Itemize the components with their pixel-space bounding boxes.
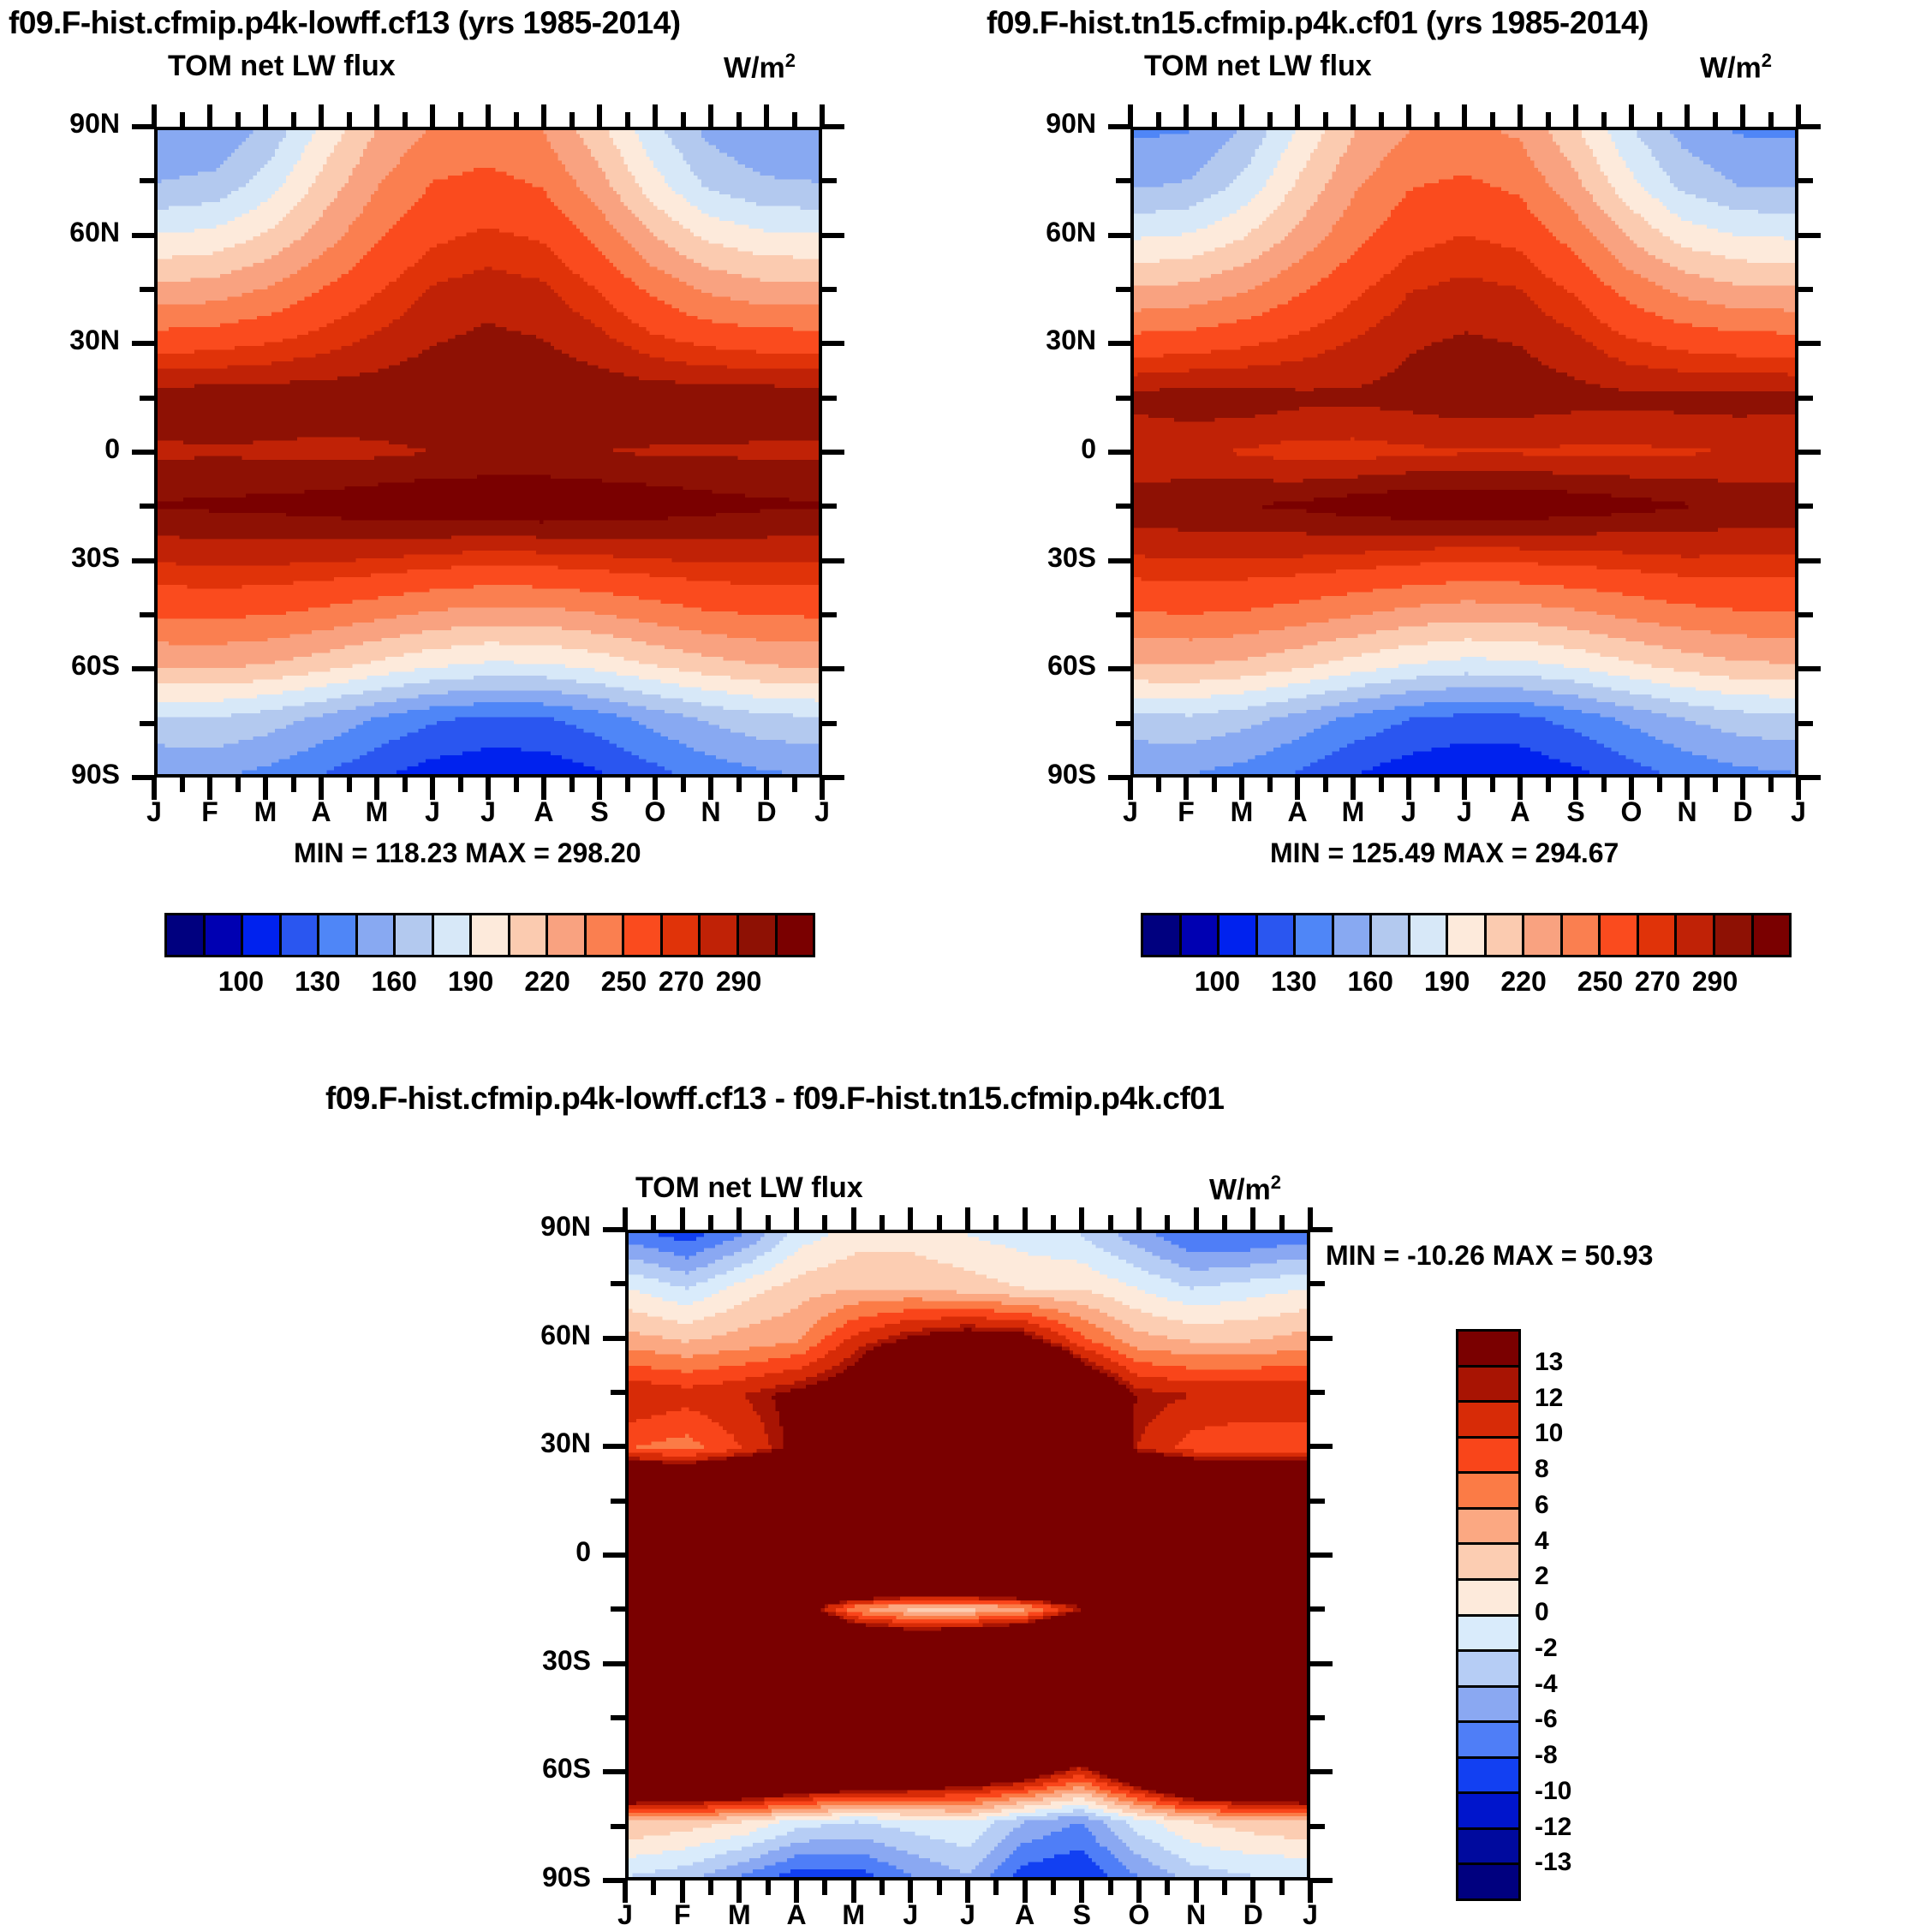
colorbar-swatch <box>701 915 739 955</box>
x-axis-tick-top <box>319 104 324 127</box>
units-exponent: 2 <box>1271 1171 1281 1193</box>
x-axis-tick-top-minor <box>625 112 630 127</box>
plot-area-topright <box>1130 127 1798 778</box>
x-axis-tick-top <box>1239 104 1244 127</box>
x-axis-tick-top <box>623 1207 628 1230</box>
x-axis-tick-bottom-minor <box>1108 1880 1113 1895</box>
x-axis-tick-top <box>820 104 825 127</box>
panel-bottom-variable-label: TOM net LW flux <box>635 1171 863 1205</box>
colorbar-swatch <box>1372 915 1410 955</box>
x-axis-tick-bottom-minor <box>1051 1880 1056 1895</box>
x-axis-label-12: J <box>788 796 856 828</box>
x-axis-tick-top <box>736 1207 742 1230</box>
colorbar-diff-tick--12: -12 <box>1535 1813 1571 1842</box>
x-axis-tick-top <box>1128 104 1133 127</box>
panel-topleft-title: f09.F-hist.cfmip.p4k-lowff.cf13 (yrs 198… <box>9 5 681 41</box>
colorbar-swatch <box>1458 1652 1518 1688</box>
x-axis-tick-bottom-minor <box>736 778 742 792</box>
x-axis-tick-bottom-minor <box>1165 1880 1170 1895</box>
y-axis-tick-major <box>1108 233 1130 238</box>
x-axis-tick-top <box>152 104 157 127</box>
colorbar-swatch <box>1677 915 1715 955</box>
x-axis-tick-top-minor <box>681 112 686 127</box>
y-axis-tick-minor <box>140 612 154 617</box>
colorbar-swatch <box>1487 915 1525 955</box>
colorbar-swatch <box>1715 915 1754 955</box>
x-axis-tick-top-minor <box>347 112 352 127</box>
y-axis-tick-minor <box>611 1281 625 1286</box>
colorbar-diff-tick--8: -8 <box>1535 1741 1558 1770</box>
x-axis-tick-bottom-minor <box>236 778 241 792</box>
colorbar-swatch <box>472 915 510 955</box>
x-axis-tick-bottom-minor <box>180 778 185 792</box>
y-axis-tick-major <box>1108 666 1130 671</box>
colorbar-swatch <box>1601 915 1639 955</box>
y-axis-tick-major <box>132 558 154 563</box>
x-axis-tick-top <box>1308 1207 1313 1230</box>
y-axis-label-30S: 30S <box>0 542 120 574</box>
y-axis-tick-major-right <box>1310 1661 1333 1666</box>
y-axis-label-90N: 90N <box>968 108 1096 140</box>
x-axis-tick-top-minor <box>291 112 296 127</box>
x-axis-tick-bottom-minor <box>651 1880 656 1895</box>
y-axis-tick-major-right <box>1310 1336 1333 1341</box>
x-axis-tick-bottom-minor <box>1601 778 1607 792</box>
y-axis-tick-minor-right <box>822 287 837 292</box>
y-axis-label-60S: 60S <box>968 650 1096 682</box>
y-axis-tick-minor <box>140 287 154 292</box>
x-axis-tick-top-minor <box>1267 112 1273 127</box>
y-axis-tick-minor-right <box>1310 1824 1325 1829</box>
x-axis-tick-top-minor <box>1434 112 1440 127</box>
y-axis-label-30S: 30S <box>968 542 1096 574</box>
colorbar-diff-tick--2: -2 <box>1535 1634 1558 1663</box>
colorbar-topright <box>1141 913 1792 957</box>
y-axis-tick-minor <box>1116 721 1130 726</box>
y-axis-tick-major-right <box>1798 341 1821 346</box>
x-axis-tick-top-minor <box>792 112 797 127</box>
x-axis-tick-top-minor <box>651 1215 656 1230</box>
colorbar-swatch <box>434 915 473 955</box>
colorbar-swatch <box>1458 1368 1518 1404</box>
colorbar-swatch <box>1143 915 1182 955</box>
panel-bottom-minmax: MIN = -10.26 MAX = 50.93 <box>1326 1240 1653 1272</box>
y-axis-tick-major-right <box>1310 1553 1333 1558</box>
y-axis-label-30N: 30N <box>0 325 120 356</box>
x-axis-tick-top-minor <box>993 1215 999 1230</box>
colorbar-swatch <box>587 915 625 955</box>
y-axis-tick-major-right <box>822 666 844 671</box>
x-axis-tick-top-minor <box>1379 112 1384 127</box>
y-axis-label-60S: 60S <box>462 1753 591 1785</box>
x-axis-tick-top <box>486 104 491 127</box>
plot-area-bottom <box>625 1230 1310 1880</box>
colorbar-swatch <box>1448 915 1487 955</box>
x-axis-tick-bottom-minor <box>1379 778 1384 792</box>
x-axis-tick-top <box>1462 104 1467 127</box>
colorbar-swatch <box>282 915 320 955</box>
plot-area-topleft <box>154 127 822 778</box>
x-axis-tick-top <box>680 1207 685 1230</box>
x-axis-tick-top <box>207 104 212 127</box>
x-axis-tick-top-minor <box>236 112 241 127</box>
y-axis-tick-minor <box>1116 612 1130 617</box>
contour-field <box>158 130 819 774</box>
colorbar-diff-tick-6: 6 <box>1535 1491 1549 1520</box>
colorbar-swatch <box>1458 1474 1518 1510</box>
colorbar-swatch <box>206 915 244 955</box>
y-axis-label-90N: 90N <box>0 108 120 140</box>
y-axis-tick-minor <box>611 1715 625 1720</box>
y-axis-tick-minor <box>611 1390 625 1395</box>
x-axis-tick-bottom-minor <box>458 778 463 792</box>
x-axis-tick-bottom-minor <box>1212 778 1217 792</box>
x-axis-tick-bottom-minor <box>1657 778 1662 792</box>
y-axis-tick-minor <box>140 396 154 401</box>
y-axis-label-60N: 60N <box>968 217 1096 248</box>
y-axis-tick-major <box>132 666 154 671</box>
colorbar-topleft <box>164 913 815 957</box>
y-axis-tick-major <box>603 1553 625 1558</box>
colorbar-diff-tick-10: 10 <box>1535 1419 1563 1448</box>
colorbar-swatch <box>1563 915 1601 955</box>
y-axis-tick-minor <box>1116 287 1130 292</box>
colorbar-swatch <box>1458 1617 1518 1653</box>
colorbar-swatch <box>1458 1510 1518 1546</box>
colorbar-swatch <box>1458 1723 1518 1759</box>
y-axis-tick-major-right <box>822 775 844 780</box>
y-axis-tick-minor-right <box>1798 287 1813 292</box>
colorbar-diff-tick--6: -6 <box>1535 1705 1558 1734</box>
x-axis-tick-top-minor <box>766 1215 771 1230</box>
x-axis-tick-bottom-minor <box>569 778 575 792</box>
units-text: W/m <box>724 51 785 84</box>
x-axis-tick-bottom-minor <box>708 1880 713 1895</box>
y-axis-label-30N: 30N <box>968 325 1096 356</box>
x-axis-tick-top-minor <box>1323 112 1328 127</box>
x-axis-tick-top-minor <box>402 112 408 127</box>
y-axis-tick-minor <box>1116 396 1130 401</box>
units-text: W/m <box>1209 1173 1271 1206</box>
x-axis-tick-top <box>1406 104 1411 127</box>
x-axis-tick-top-minor <box>180 112 185 127</box>
x-axis-tick-top-minor <box>1713 112 1718 127</box>
x-axis-tick-bottom-minor <box>766 1880 771 1895</box>
y-axis-tick-major-right <box>1798 558 1821 563</box>
panel-topright-units-label: W/m2 <box>1700 50 1772 85</box>
contour-field <box>1134 130 1795 774</box>
y-axis-tick-minor <box>140 721 154 726</box>
panel-topright-title: f09.F-hist.tn15.cfmip.p4k.cf01 (yrs 1985… <box>987 5 1649 41</box>
x-axis-tick-top-minor <box>569 112 575 127</box>
colorbar-swatch <box>1458 1865 1518 1898</box>
y-axis-tick-minor <box>140 504 154 509</box>
colorbar-swatch <box>243 915 282 955</box>
colorbar-swatch <box>1334 915 1373 955</box>
x-axis-tick-top-minor <box>1156 112 1161 127</box>
colorbar-diff-tick-13: 13 <box>1535 1348 1563 1377</box>
colorbar-swatch <box>319 915 358 955</box>
y-axis-tick-minor <box>1116 504 1130 509</box>
x-axis-tick-top <box>653 104 658 127</box>
y-axis-label-0: 0 <box>968 433 1096 465</box>
x-axis-tick-top-minor <box>1212 112 1217 127</box>
colorbar-swatch <box>1458 1332 1518 1368</box>
x-axis-tick-bottom-minor <box>1713 778 1718 792</box>
x-axis-tick-bottom-minor <box>625 778 630 792</box>
x-axis-tick-top-minor <box>1768 112 1774 127</box>
x-axis-tick-top <box>794 1207 799 1230</box>
colorbar-diff-tick-12: 12 <box>1535 1384 1563 1413</box>
y-axis-label-30N: 30N <box>462 1427 591 1459</box>
colorbar-diff-tick-4: 4 <box>1535 1527 1549 1556</box>
y-axis-label-90S: 90S <box>968 759 1096 790</box>
y-axis-tick-major <box>1108 450 1130 455</box>
x-axis-tick-top <box>1295 104 1300 127</box>
x-axis-tick-top <box>708 104 713 127</box>
y-axis-tick-major-right <box>1310 1444 1333 1449</box>
x-axis-tick-bottom-minor <box>792 778 797 792</box>
x-axis-tick-top <box>430 104 435 127</box>
x-axis-label-12: J <box>1764 796 1833 828</box>
x-axis-tick-top-minor <box>1108 1215 1113 1230</box>
y-axis-tick-major <box>603 1336 625 1341</box>
y-axis-tick-major <box>1108 558 1130 563</box>
y-axis-tick-major <box>1108 341 1130 346</box>
y-axis-tick-minor-right <box>822 504 837 509</box>
y-axis-tick-major-right <box>1798 450 1821 455</box>
y-axis-label-90S: 90S <box>462 1862 591 1893</box>
y-axis-tick-minor-right <box>1798 721 1813 726</box>
panel-topright-minmax: MIN = 125.49 MAX = 294.67 <box>1270 837 1619 869</box>
x-axis-tick-top <box>1079 1207 1084 1230</box>
colorbar-swatch <box>1458 1830 1518 1866</box>
colorbar-diff-tick--4: -4 <box>1535 1670 1558 1699</box>
x-axis-tick-top <box>908 1207 913 1230</box>
x-axis-tick-bottom-minor <box>514 778 519 792</box>
y-axis-label-90N: 90N <box>462 1211 591 1243</box>
x-axis-tick-top <box>1136 1207 1142 1230</box>
y-axis-tick-minor-right <box>1798 612 1813 617</box>
y-axis-tick-minor-right <box>1310 1390 1325 1395</box>
x-axis-tick-top-minor <box>1222 1215 1227 1230</box>
x-axis-tick-top <box>1194 1207 1199 1230</box>
x-axis-tick-top <box>1629 104 1634 127</box>
colorbar-swatch <box>1219 915 1258 955</box>
x-axis-tick-top <box>1573 104 1578 127</box>
x-axis-tick-top <box>1685 104 1690 127</box>
y-axis-tick-minor-right <box>822 612 837 617</box>
panel-topright-variable-label: TOM net LW flux <box>1144 50 1372 83</box>
panel-bottom-units-label: W/m2 <box>1209 1171 1281 1207</box>
colorbar-swatch <box>739 915 778 955</box>
colorbar-diff-tick-2: 2 <box>1535 1562 1549 1591</box>
y-axis-label-0: 0 <box>0 433 120 465</box>
y-axis-tick-minor-right <box>1310 1499 1325 1504</box>
x-axis-tick-top-minor <box>1546 112 1551 127</box>
colorbar-swatch <box>1458 1688 1518 1724</box>
y-axis-tick-major <box>603 1444 625 1449</box>
y-axis-tick-major <box>603 1769 625 1774</box>
y-axis-tick-major-right <box>1310 1769 1333 1774</box>
y-axis-label-60S: 60S <box>0 650 120 682</box>
y-axis-tick-minor <box>611 1824 625 1829</box>
y-axis-tick-major-right <box>1798 666 1821 671</box>
y-axis-tick-major-right <box>822 450 844 455</box>
x-axis-tick-top <box>597 104 602 127</box>
x-axis-tick-bottom-minor <box>402 778 408 792</box>
y-axis-tick-major-right <box>822 124 844 129</box>
units-text: W/m <box>1700 51 1762 84</box>
y-axis-tick-major-right <box>1798 775 1821 780</box>
y-axis-label-90S: 90S <box>0 759 120 790</box>
y-axis-tick-major-right <box>1310 1878 1333 1883</box>
x-axis-tick-top-minor <box>1601 112 1607 127</box>
units-exponent: 2 <box>1762 50 1772 71</box>
x-axis-tick-bottom-minor <box>1279 1880 1285 1895</box>
panel-bottom-title: f09.F-hist.cfmip.p4k-lowff.cf13 - f09.F-… <box>325 1081 1224 1117</box>
colorbar-swatch <box>1458 1439 1518 1475</box>
y-axis-tick-major-right <box>822 233 844 238</box>
x-axis-tick-bottom-minor <box>1222 1880 1227 1895</box>
x-axis-tick-bottom-minor <box>1156 778 1161 792</box>
colorbar-tick-label-290: 290 <box>688 966 790 998</box>
colorbar-swatch <box>1296 915 1334 955</box>
x-axis-tick-bottom-minor <box>1490 778 1495 792</box>
y-axis-tick-minor <box>611 1606 625 1612</box>
y-axis-tick-major-right <box>1798 233 1821 238</box>
colorbar-diff-tick-8: 8 <box>1535 1455 1549 1484</box>
x-axis-tick-bottom-minor <box>681 778 686 792</box>
x-axis-tick-top-minor <box>736 112 742 127</box>
x-axis-tick-top <box>1023 1207 1028 1230</box>
colorbar-diff-tick-0: 0 <box>1535 1598 1549 1627</box>
colorbar-swatch <box>358 915 397 955</box>
colorbar-swatch <box>1639 915 1678 955</box>
y-axis-tick-major-right <box>822 558 844 563</box>
colorbar-swatch <box>778 915 814 955</box>
x-axis-tick-top <box>1740 104 1745 127</box>
y-axis-tick-minor-right <box>1310 1606 1325 1612</box>
x-axis-tick-bottom-minor <box>937 1880 942 1895</box>
x-axis-label-12: J <box>1276 1899 1345 1931</box>
y-axis-label-60N: 60N <box>0 217 120 248</box>
units-exponent: 2 <box>785 50 796 71</box>
x-axis-tick-top <box>374 104 379 127</box>
x-axis-tick-top-minor <box>1051 1215 1056 1230</box>
x-axis-tick-top <box>851 1207 856 1230</box>
y-axis-tick-major <box>132 450 154 455</box>
colorbar-swatch <box>1524 915 1563 955</box>
x-axis-tick-top-minor <box>708 1215 713 1230</box>
y-axis-tick-major-right <box>822 341 844 346</box>
x-axis-tick-top <box>541 104 546 127</box>
x-axis-tick-top <box>965 1207 970 1230</box>
x-axis-tick-bottom-minor <box>993 1880 999 1895</box>
y-axis-tick-minor-right <box>1798 504 1813 509</box>
colorbar-swatch <box>1458 1581 1518 1617</box>
y-axis-tick-minor-right <box>822 396 837 401</box>
colorbar-diff-tick--10: -10 <box>1535 1777 1571 1806</box>
colorbar-swatch <box>1182 915 1220 955</box>
y-axis-tick-major-right <box>1798 124 1821 129</box>
y-axis-label-60N: 60N <box>462 1320 591 1351</box>
x-axis-tick-top <box>263 104 268 127</box>
y-axis-tick-minor-right <box>1798 396 1813 401</box>
y-axis-tick-minor <box>1116 178 1130 183</box>
x-axis-tick-bottom-minor <box>1546 778 1551 792</box>
colorbar-swatch <box>1410 915 1449 955</box>
y-axis-label-0: 0 <box>462 1536 591 1568</box>
panel-topleft-variable-label: TOM net LW flux <box>168 50 396 83</box>
colorbar-tick-label-290: 290 <box>1664 966 1767 998</box>
colorbar-diff-tick--13: -13 <box>1535 1848 1571 1877</box>
x-axis-tick-bottom-minor <box>1267 778 1273 792</box>
colorbar-swatch <box>1458 1545 1518 1581</box>
x-axis-tick-top <box>1518 104 1523 127</box>
x-axis-tick-top <box>1250 1207 1255 1230</box>
y-axis-tick-major <box>132 233 154 238</box>
x-axis-tick-top <box>1351 104 1356 127</box>
y-axis-tick-major <box>132 341 154 346</box>
contour-field <box>629 1233 1307 1877</box>
x-axis-tick-top-minor <box>514 112 519 127</box>
x-axis-tick-top <box>1184 104 1189 127</box>
x-axis-tick-bottom-minor <box>1434 778 1440 792</box>
y-axis-tick-minor-right <box>822 178 837 183</box>
y-axis-label-30S: 30S <box>462 1645 591 1677</box>
colorbar-bottom <box>1456 1329 1521 1901</box>
y-axis-tick-minor-right <box>1310 1281 1325 1286</box>
colorbar-swatch <box>1458 1759 1518 1795</box>
x-axis-tick-bottom-minor <box>880 1880 885 1895</box>
colorbar-swatch <box>663 915 701 955</box>
colorbar-swatch <box>1258 915 1297 955</box>
x-axis-tick-top <box>1796 104 1801 127</box>
x-axis-tick-bottom-minor <box>822 1880 827 1895</box>
y-axis-tick-minor <box>611 1499 625 1504</box>
x-axis-tick-top-minor <box>1657 112 1662 127</box>
colorbar-swatch <box>1458 1794 1518 1830</box>
x-axis-tick-top <box>764 104 769 127</box>
colorbar-swatch <box>510 915 549 955</box>
colorbar-swatch <box>396 915 434 955</box>
x-axis-tick-top-minor <box>1279 1215 1285 1230</box>
y-axis-tick-minor-right <box>1798 178 1813 183</box>
x-axis-tick-top-minor <box>880 1215 885 1230</box>
x-axis-tick-bottom-minor <box>291 778 296 792</box>
x-axis-tick-top-minor <box>1490 112 1495 127</box>
y-axis-tick-major-right <box>1310 1227 1333 1232</box>
panel-topleft-units-label: W/m2 <box>724 50 796 85</box>
x-axis-tick-top-minor <box>1165 1215 1170 1230</box>
y-axis-tick-minor-right <box>1310 1715 1325 1720</box>
colorbar-swatch <box>548 915 587 955</box>
y-axis-tick-major <box>603 1661 625 1666</box>
y-axis-tick-minor <box>140 178 154 183</box>
colorbar-swatch <box>1754 915 1790 955</box>
x-axis-tick-top-minor <box>458 112 463 127</box>
colorbar-swatch <box>167 915 206 955</box>
x-axis-tick-bottom-minor <box>1323 778 1328 792</box>
x-axis-tick-bottom-minor <box>347 778 352 792</box>
x-axis-tick-top-minor <box>937 1215 942 1230</box>
x-axis-tick-bottom-minor <box>1768 778 1774 792</box>
y-axis-tick-minor-right <box>822 721 837 726</box>
panel-topleft-minmax: MIN = 118.23 MAX = 298.20 <box>294 837 641 869</box>
colorbar-swatch <box>624 915 663 955</box>
x-axis-tick-top-minor <box>822 1215 827 1230</box>
